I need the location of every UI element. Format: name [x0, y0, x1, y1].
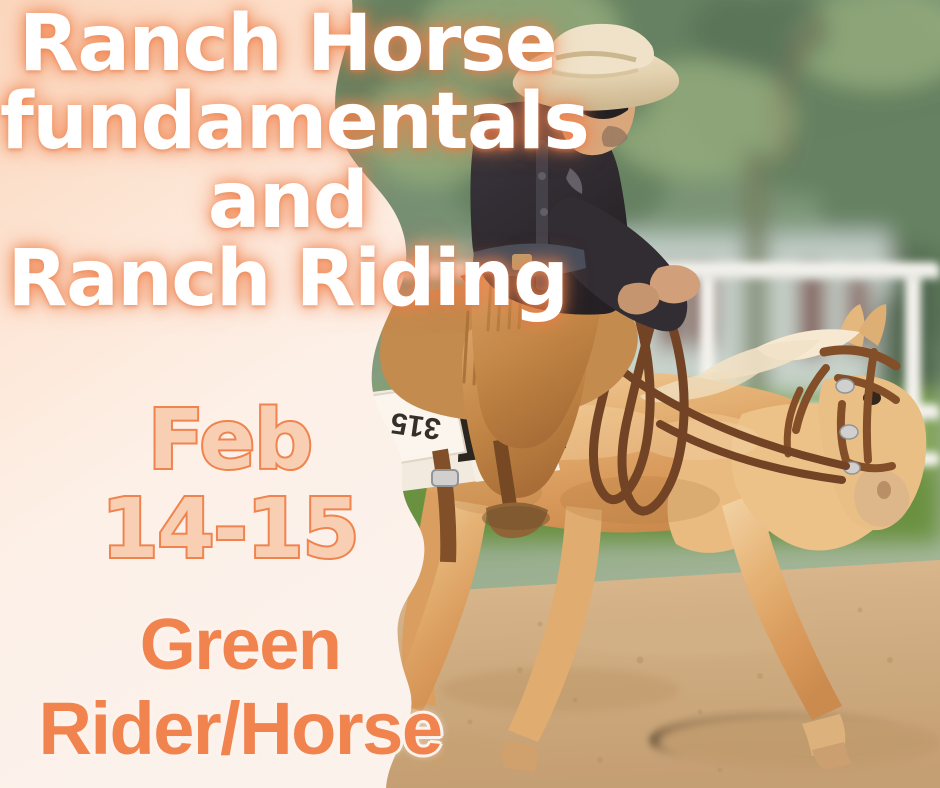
- headline-line-3: and: [0, 163, 575, 239]
- promo-poster: 315: [0, 0, 940, 788]
- poster-text: Ranch Horse fundamentals and Ranch Ridin…: [0, 0, 940, 788]
- headline-line-1: Ranch Horse: [0, 6, 575, 82]
- audience-line-1: Green: [0, 608, 480, 684]
- audience-line-2: Rider/Horse: [0, 690, 480, 768]
- event-month: Feb: [0, 398, 460, 483]
- headline-line-2: fundamentals: [0, 84, 575, 160]
- headline-block: Ranch Horse fundamentals and Ranch Ridin…: [0, 6, 575, 318]
- event-days: 14-15: [0, 487, 460, 572]
- audience-block: Green Rider/Horse: [0, 608, 480, 767]
- headline-line-4: Ranch Riding: [0, 241, 575, 317]
- event-date-block: Feb 14-15: [0, 398, 460, 573]
